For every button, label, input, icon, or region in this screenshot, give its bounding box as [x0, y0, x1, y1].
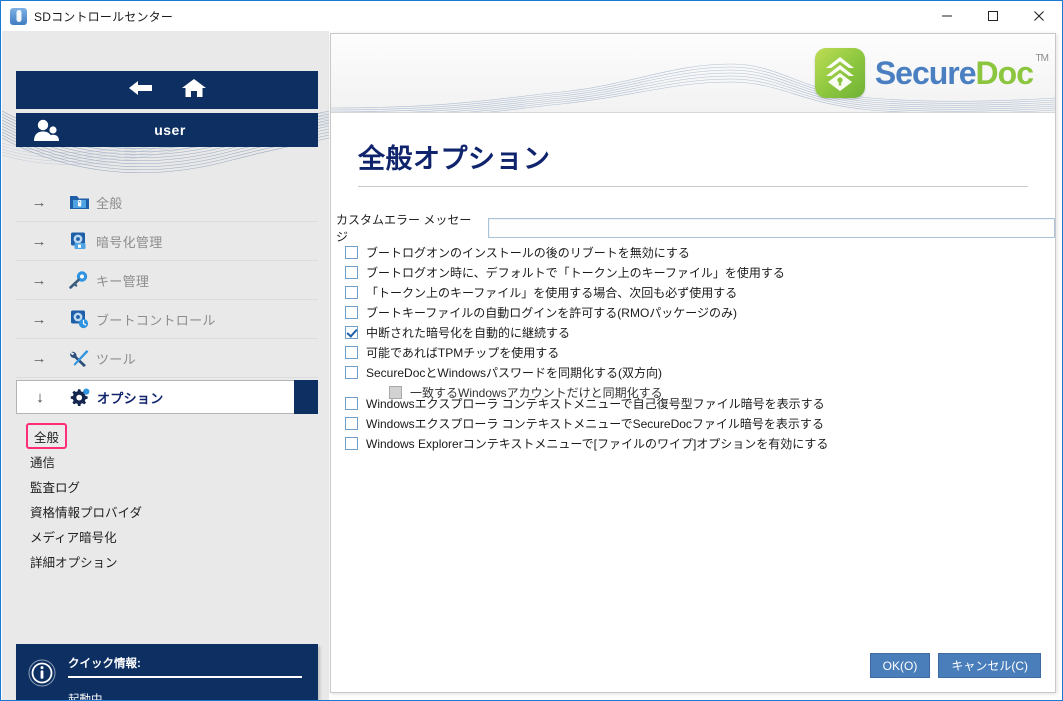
sidebar-item-encryption-management[interactable]: → 暗号化管理 — [16, 222, 318, 261]
option-row[interactable]: 中断された暗号化を自動的に継続する — [345, 323, 785, 342]
home-icon[interactable] — [181, 77, 207, 104]
checkbox-enable-file-wipe-option[interactable] — [345, 437, 358, 450]
nav-list: → 全般 → — [16, 183, 318, 414]
checkbox-auto-continue-interrupted-encryption[interactable] — [345, 326, 358, 339]
option-row[interactable]: Windowsエクスプローラ コンテキストメニューでSecureDocファイル暗… — [345, 414, 828, 433]
close-button[interactable] — [1016, 1, 1062, 31]
trademark-symbol: TM — [1036, 53, 1048, 64]
sidebar-label-key-management: キー管理 — [96, 271, 149, 290]
quick-info-status: 起動中 — [68, 691, 302, 700]
option-row[interactable]: ブートログオンのインストールの後のリブートを無効にする — [345, 243, 785, 262]
disk-lock-icon — [62, 231, 96, 251]
ok-button[interactable]: OK(O) — [870, 653, 931, 678]
quick-info-body: クイック情報: 起動中 — [68, 644, 318, 700]
arrow-right-icon: → — [16, 311, 62, 328]
sub-nav-list: 全般 通信 監査ログ 資格情報プロバイダ メディア暗号化 詳細オプション — [26, 423, 306, 574]
gear-icon — [63, 387, 97, 407]
sidebar-subitem-advanced-options[interactable]: 詳細オプション — [26, 549, 306, 574]
quick-info-divider — [68, 676, 302, 678]
checkbox-use-tpm-chip-if-available[interactable] — [345, 346, 358, 359]
sidebar-subitem-audit-log[interactable]: 監査ログ — [26, 474, 306, 499]
sidebar-item-general[interactable]: → 全般 — [16, 183, 318, 222]
option-label: Windowsエクスプローラ コンテキストメニューでSecureDocファイル暗… — [366, 415, 824, 432]
option-row[interactable]: ブートログオン時に、デフォルトで「トークン上のキーファイル」を使用する — [345, 263, 785, 282]
sidebar-label-tools: ツール — [96, 349, 136, 368]
cancel-button[interactable]: キャンセル(C) — [938, 653, 1041, 678]
quick-info-panel: クイック情報: 起動中 — [16, 644, 318, 700]
option-label: ブートログオン時に、デフォルトで「トークン上のキーファイル」を使用する — [366, 264, 785, 281]
sidebar-item-key-management[interactable]: → キー管理 — [16, 261, 318, 300]
maximize-button[interactable] — [970, 1, 1016, 31]
back-arrow-icon[interactable] — [127, 78, 155, 103]
user-name: user — [66, 122, 274, 138]
info-icon — [16, 644, 68, 700]
sidebar-subitem-general[interactable]: 全般 — [26, 423, 67, 449]
options-content: 全般オプション カスタムエラー メッセージ ブートログオンのインストールの後のリ… — [331, 113, 1055, 692]
key-icon — [62, 270, 96, 290]
tools-icon — [62, 348, 96, 368]
disk-boot-icon — [62, 309, 96, 329]
selected-indicator — [294, 380, 318, 414]
sidebar-subitem-communication[interactable]: 通信 — [26, 449, 306, 474]
sidebar-item-boot-control[interactable]: → ブートコントロール — [16, 300, 318, 339]
checkbox-show-securedoc-file-encryption[interactable] — [345, 417, 358, 430]
custom-error-row: カスタムエラー メッセージ — [336, 211, 1055, 245]
arrow-right-icon: → — [16, 194, 62, 211]
option-label: Windowsエクスプローラ コンテキストメニューで自己復号型ファイル暗号を表示… — [366, 395, 825, 412]
option-label: SecureDocとWindowsパスワードを同期化する(双方向) — [366, 364, 662, 381]
option-row[interactable]: 可能であればTPMチップを使用する — [345, 343, 785, 362]
users-icon — [32, 118, 66, 142]
sidebar-item-options[interactable]: ↓ オプション — [16, 380, 318, 414]
sidebar-label-options: オプション — [97, 388, 164, 407]
quick-info-title: クイック情報: — [68, 655, 302, 671]
arrow-right-icon: → — [16, 272, 62, 289]
option-row[interactable]: Windowsエクスプローラ コンテキストメニューで自己復号型ファイル暗号を表示… — [345, 394, 828, 413]
options-group-primary: ブートログオンのインストールの後のリブートを無効にする ブートログオン時に、デフ… — [345, 243, 785, 403]
option-label: 「トークン上のキーファイル」を使用する場合、次回も必ず使用する — [366, 284, 737, 301]
option-label: ブートキーファイルの自動ログインを許可する(RMOパッケージのみ) — [366, 304, 737, 321]
checkbox-use-token-keyfile-by-default[interactable] — [345, 266, 358, 279]
app-icon — [10, 8, 27, 25]
custom-error-input[interactable] — [488, 218, 1055, 238]
sidebar-subitem-credential-provider[interactable]: 資格情報プロバイダ — [26, 499, 306, 524]
option-row[interactable]: 「トークン上のキーファイル」を使用する場合、次回も必ず使用する — [345, 283, 785, 302]
folder-lock-icon — [62, 193, 96, 211]
sidebar: user → 全般 → — [2, 31, 329, 700]
securedoc-shield-logo — [815, 48, 865, 98]
brand-banner: SecureDocTM — [331, 34, 1055, 113]
option-label: Windows Explorerコンテキストメニューで[ファイルのワイプ]オプシ… — [366, 435, 828, 452]
option-label: 可能であればTPMチップを使用する — [366, 344, 559, 361]
securedoc-wordmark: SecureDocTM — [875, 55, 1033, 92]
dialog-buttons: OK(O) キャンセル(C) — [870, 653, 1041, 678]
title-divider — [358, 186, 1028, 187]
custom-error-label: カスタムエラー メッセージ — [336, 211, 480, 245]
title-bar: SDコントロールセンター — [1, 1, 1062, 31]
arrow-right-icon: → — [16, 350, 62, 367]
nav-toolbar — [16, 71, 318, 109]
sidebar-label-encryption-management: 暗号化管理 — [96, 232, 163, 251]
arrow-down-icon: ↓ — [17, 389, 63, 406]
checkbox-disable-reboot-after-bootlogon-install[interactable] — [345, 246, 358, 259]
arrow-right-icon: → — [16, 233, 62, 250]
options-group-explorer: Windowsエクスプローラ コンテキストメニューで自己復号型ファイル暗号を表示… — [345, 394, 828, 454]
sidebar-subitem-media-encryption[interactable]: メディア暗号化 — [26, 524, 306, 549]
window-controls — [924, 1, 1062, 31]
window-title: SDコントロールセンター — [34, 8, 173, 25]
sidebar-label-general: 全般 — [96, 193, 123, 212]
sidebar-item-tools[interactable]: → ツール — [16, 339, 318, 378]
logo-text-secure: Secure — [875, 55, 976, 91]
option-label: ブートログオンのインストールの後のリブートを無効にする — [366, 244, 690, 261]
checkbox-always-use-token-keyfile-next-time[interactable] — [345, 286, 358, 299]
option-label: 中断された暗号化を自動的に継続する — [366, 324, 570, 341]
securedoc-logo: SecureDocTM — [815, 48, 1033, 98]
sidebar-label-boot-control: ブートコントロール — [96, 310, 216, 329]
checkbox-show-self-decrypting-file-encryption[interactable] — [345, 397, 358, 410]
logo-text-doc: Doc — [976, 55, 1033, 91]
checkbox-allow-bootkeyfile-autologin[interactable] — [345, 306, 358, 319]
user-bar[interactable]: user — [16, 113, 318, 147]
main-panel: SecureDocTM 全般オプション カスタムエラー メッセージ ブートログオ… — [330, 33, 1056, 693]
option-row[interactable]: Windows Explorerコンテキストメニューで[ファイルのワイプ]オプシ… — [345, 434, 828, 453]
minimize-button[interactable] — [924, 1, 970, 31]
sd-control-center-window: SDコントロールセンター — [0, 0, 1063, 701]
option-row[interactable]: SecureDocとWindowsパスワードを同期化する(双方向) — [345, 363, 785, 382]
page-title: 全般オプション — [358, 137, 551, 176]
option-row[interactable]: ブートキーファイルの自動ログインを許可する(RMOパッケージのみ) — [345, 303, 785, 322]
checkbox-sync-securedoc-windows-password[interactable] — [345, 366, 358, 379]
